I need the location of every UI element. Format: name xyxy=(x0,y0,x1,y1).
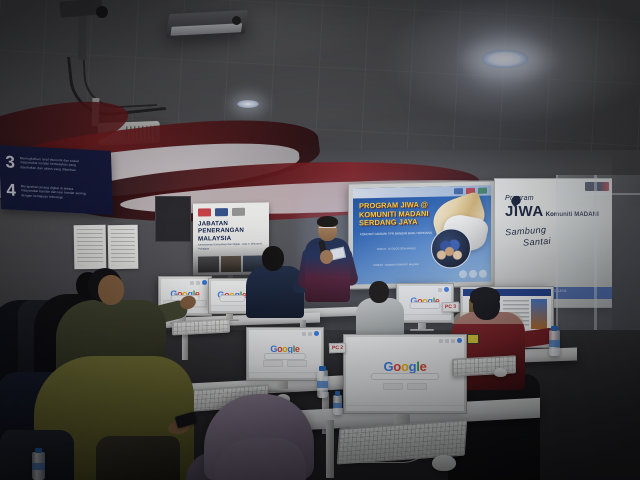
banner-logo-row xyxy=(198,206,264,217)
slide-title: PROGRAM JIWA @ KOMUNITI MADANI SERDANG J… xyxy=(359,201,437,229)
jabatan-penerangan-banner: JABATAN PENERANGAN MALAYSIA Kementerian … xyxy=(193,202,269,275)
wall-sign-text-3: Meningkatkan taraf ekonomi dan sosial ma… xyxy=(20,156,86,173)
slide-subtitle: KOMUNITI MADANI PPR BANDAR BARU SERDANG xyxy=(359,231,433,237)
presenter-hair xyxy=(317,216,338,227)
attendee-back-white-body xyxy=(356,298,404,338)
avatar xyxy=(457,338,462,343)
search-input[interactable] xyxy=(219,295,245,302)
avatar xyxy=(202,280,207,285)
wall-notice-left xyxy=(74,225,107,270)
feeling-lucky-button[interactable] xyxy=(407,383,427,390)
attendee-right-badge xyxy=(467,334,479,344)
google-topbar xyxy=(439,338,462,343)
whiteboard-jiwa-word: JIWA xyxy=(505,203,544,220)
google-buttons xyxy=(383,383,427,390)
monitor-back-left-2[interactable]: Google xyxy=(208,278,250,308)
attendee-mid-navy-head xyxy=(262,246,284,271)
search-input[interactable] xyxy=(371,373,439,380)
camera-lens-icon xyxy=(96,6,108,18)
recessed-led-downlight xyxy=(482,50,528,68)
wall-sign-row-4: 4 Merapatkan jurang digital di antara ma… xyxy=(6,181,87,202)
foreground-chair-mid xyxy=(96,436,180,480)
water-bottle[interactable] xyxy=(549,330,560,356)
wall-dark-panel xyxy=(155,196,191,242)
monitor-base xyxy=(265,389,299,392)
glass-rail xyxy=(556,193,640,195)
glass-partition xyxy=(556,175,640,345)
banner-photo-2 xyxy=(221,256,242,272)
kkd-logo-icon xyxy=(232,208,245,216)
ceiling-light-sensor-icon xyxy=(232,16,241,25)
google-topbar xyxy=(190,280,207,285)
slide-meta-venue: TEMPAT : DEWAN KOMUNITI MADANI xyxy=(359,263,433,268)
banner-photo-1 xyxy=(198,256,219,272)
wall-notice-right xyxy=(108,225,139,270)
google-footer xyxy=(249,372,321,378)
notice-text-lines xyxy=(111,229,136,265)
water-bottle[interactable] xyxy=(317,370,328,398)
monitor-screen[interactable]: Google xyxy=(249,330,321,378)
jata-negara-logo-icon xyxy=(198,208,211,216)
banner-subtitle: Kementerian Komunikasi dan Digital · Ara… xyxy=(198,242,264,250)
recessed-led-downlight-secondary xyxy=(237,100,259,108)
monitor-mid-left[interactable]: Google xyxy=(246,327,318,375)
feeling-lucky-button[interactable] xyxy=(287,360,307,367)
attendee-back-white-head xyxy=(369,281,389,303)
monitor-screen[interactable]: Google xyxy=(346,337,464,411)
mouse[interactable] xyxy=(432,455,456,471)
glasses-icon xyxy=(319,227,336,232)
slide-badge-row xyxy=(459,270,487,279)
google-search-button[interactable] xyxy=(263,360,283,367)
photo-scene: 3 Meningkatkan taraf ekonomi dan sosial … xyxy=(0,0,640,480)
attendee-front-left-head xyxy=(98,275,124,305)
projection-screen: PROGRAM JIWA @ KOMUNITI MADANI SERDANG J… xyxy=(348,180,496,289)
slide-badge-3 xyxy=(479,270,487,278)
search-input[interactable] xyxy=(409,302,440,309)
monitor-bezel: Google xyxy=(246,327,324,381)
wall-sign-number-4: 4 xyxy=(6,181,16,199)
google-footer xyxy=(346,405,464,411)
google-search-button[interactable] xyxy=(383,383,403,390)
glass-mullion xyxy=(594,175,597,345)
banner-title: JABATAN PENERANGAN MALAYSIA xyxy=(198,219,264,242)
presentation-slide: PROGRAM JIWA @ KOMUNITI MADANI SERDANG J… xyxy=(353,186,491,285)
wall-sign-text-4: Merapatkan jurang digital di antara masy… xyxy=(21,184,87,201)
slide-meta-date: TARIKH : 25 OGOS 2024 (AHAD) xyxy=(359,247,433,252)
monitor-bezel: Google xyxy=(343,334,467,414)
mouse[interactable] xyxy=(494,368,507,377)
desk-leg xyxy=(326,420,334,478)
avatar xyxy=(444,287,449,292)
google-topbar xyxy=(438,287,449,292)
monitor-stand xyxy=(277,381,288,389)
wall-sign-number-3: 3 xyxy=(5,153,15,171)
pc-label-2: PC 2 xyxy=(329,343,346,354)
wall-info-sign: 3 Meningkatkan taraf ekonomi dan sosial … xyxy=(0,145,113,215)
slide-badge-1 xyxy=(459,270,467,278)
article-sidebar-ad[interactable] xyxy=(531,299,547,329)
cap-icon xyxy=(470,287,500,305)
wall-sign-row-3: 3 Meningkatkan taraf ekonomi dan sosial … xyxy=(5,153,86,174)
avatar xyxy=(314,331,319,336)
water-bottle[interactable] xyxy=(32,452,45,480)
kkd-logo-icon xyxy=(478,187,487,193)
water-bottle[interactable] xyxy=(333,395,342,415)
malaysia-madani-logo-icon xyxy=(215,208,228,216)
monitor-front-center[interactable]: Google xyxy=(343,334,461,408)
google-topbar xyxy=(302,331,319,336)
monitor-base xyxy=(410,329,434,331)
jata-logo-icon xyxy=(454,188,463,194)
notice-text-lines xyxy=(77,229,104,265)
presenter-hand xyxy=(320,250,333,264)
hands-illustration xyxy=(435,239,467,262)
google-buttons xyxy=(263,360,307,367)
pc-label-3: PC 3 xyxy=(442,302,459,313)
slide-badge-2 xyxy=(469,270,477,278)
hands-circle-photo xyxy=(431,228,471,269)
google-footer xyxy=(399,314,451,320)
